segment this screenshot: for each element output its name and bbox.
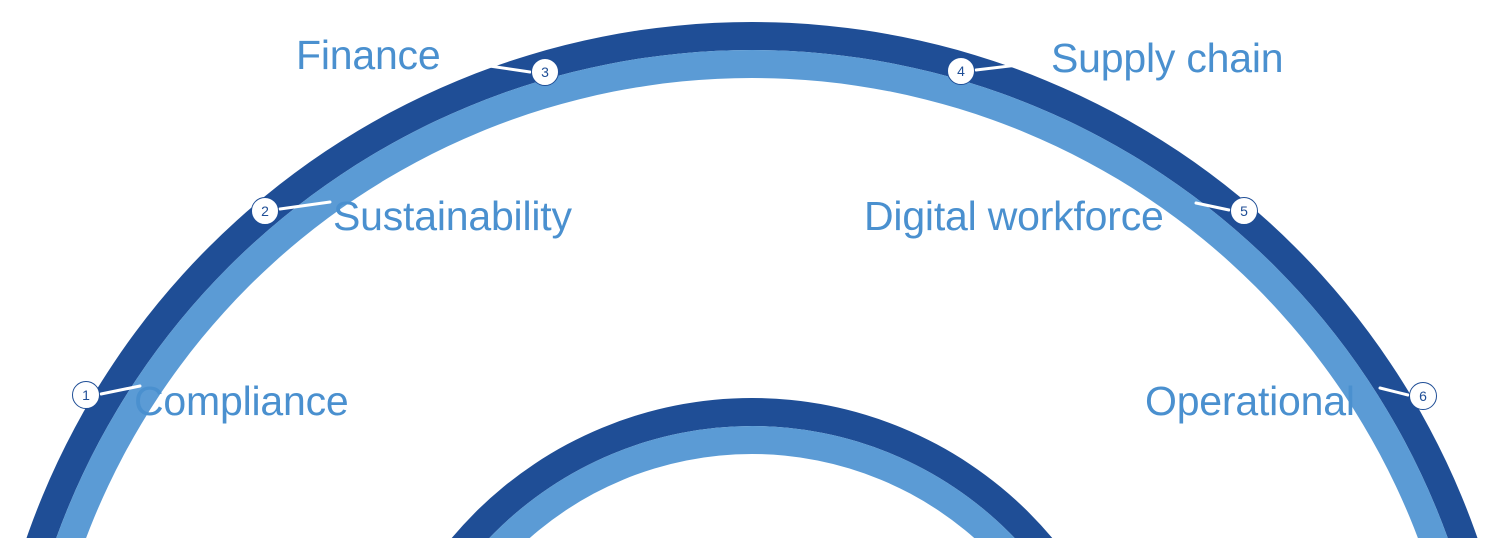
- arc-marker-2[interactable]: 2: [251, 197, 279, 225]
- arc-label-digital-workforce[interactable]: Digital workforce: [864, 196, 1164, 237]
- outer-arc-group: [0, 22, 1504, 538]
- arc-marker-4[interactable]: 4: [947, 57, 975, 85]
- inner-arc-dark-band: [360, 398, 1144, 538]
- arc-label-compliance[interactable]: Compliance: [134, 381, 349, 422]
- inner-arc-group: [360, 398, 1144, 538]
- arc-marker-3[interactable]: 3: [531, 58, 559, 86]
- arc-marker-5[interactable]: 5: [1230, 197, 1258, 225]
- arc-marker-1[interactable]: 1: [72, 381, 100, 409]
- arc-label-sustainability[interactable]: Sustainability: [333, 196, 572, 237]
- arc-marker-6[interactable]: 6: [1409, 382, 1437, 410]
- diagram-canvas: ComplianceSustainabilityFinanceSupply ch…: [0, 0, 1504, 538]
- arc-label-operational[interactable]: Operational: [1145, 381, 1355, 422]
- outer-arc-light-band: [12, 50, 1492, 538]
- arc-label-finance[interactable]: Finance: [296, 35, 440, 76]
- arc-label-supply-chain[interactable]: Supply chain: [1051, 38, 1283, 79]
